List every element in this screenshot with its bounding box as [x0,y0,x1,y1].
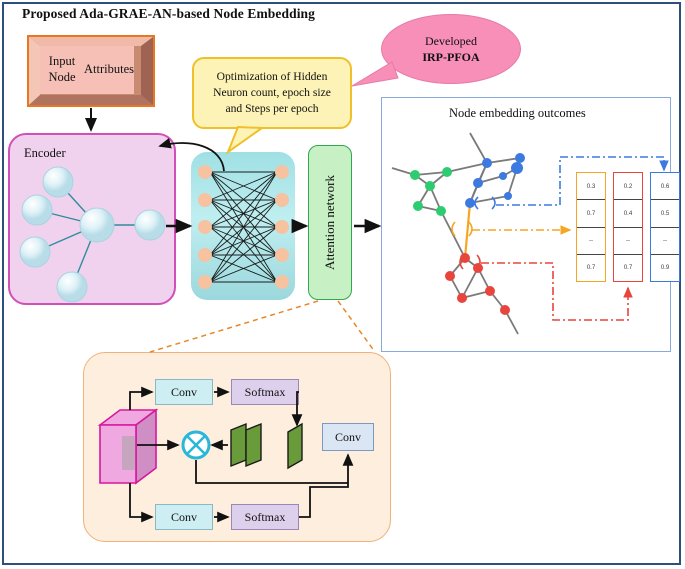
vector-cell: 0.6 [651,173,679,200]
embedding-vector-red: 0.2 0.4 -- 0.7 [613,172,643,282]
optimization-callout: Optimization of Hidden Neuron count, epo… [192,57,352,129]
vector-cell: 0.7 [614,255,642,281]
vector-cell: 0.9 [651,255,679,281]
conv-right-block: Conv [322,423,374,451]
optimization-line3: and Steps per epoch [225,102,318,115]
embedding-panel-title: Node embedding outcomes [449,106,586,121]
vector-cell: 0.7 [577,255,605,281]
conv-top-block: Conv [155,379,213,405]
vector-cell: -- [614,228,642,255]
vector-cell: 0.5 [651,200,679,227]
attention-network-label: Attention network [322,175,338,270]
vector-cell: -- [577,228,605,255]
optimization-line1: Optimization of Hidden [217,70,328,83]
input-label-line2: Attributes [84,62,134,78]
vector-cell: -- [651,228,679,255]
vector-cell: 0.7 [577,200,605,227]
algorithm-line1: Developed [425,34,477,48]
input-node-attributes-label: Input Node Attributes [40,46,134,94]
input-label-line1: Input Node [40,54,84,85]
page-title: Proposed Ada-GRAE-AN-based Node Embeddin… [22,6,315,22]
input-node-attributes-block: Input Node Attributes [27,35,155,107]
algorithm-line2: IRP-PFOA [422,50,479,64]
hidden-network-block [191,152,295,300]
optimization-line2: Neuron count, epoch size [213,86,331,99]
softmax-bottom-block: Softmax [231,504,299,530]
figure-canvas: Proposed Ada-GRAE-AN-based Node Embeddin… [0,0,685,569]
vector-cell: 0.3 [577,173,605,200]
embedding-vector-blue: 0.6 0.5 -- 0.9 [650,172,680,282]
conv-bottom-block: Conv [155,504,213,530]
vector-cell: 0.2 [614,173,642,200]
vector-cell: 0.4 [614,200,642,227]
attention-network-block: Attention network [308,145,352,300]
embedding-vector-orange: 0.3 0.7 -- 0.7 [576,172,606,282]
developed-algorithm-callout: Developed IRP-PFOA [381,14,521,84]
softmax-top-block: Softmax [231,379,299,405]
encoder-label: Encoder [24,146,66,161]
